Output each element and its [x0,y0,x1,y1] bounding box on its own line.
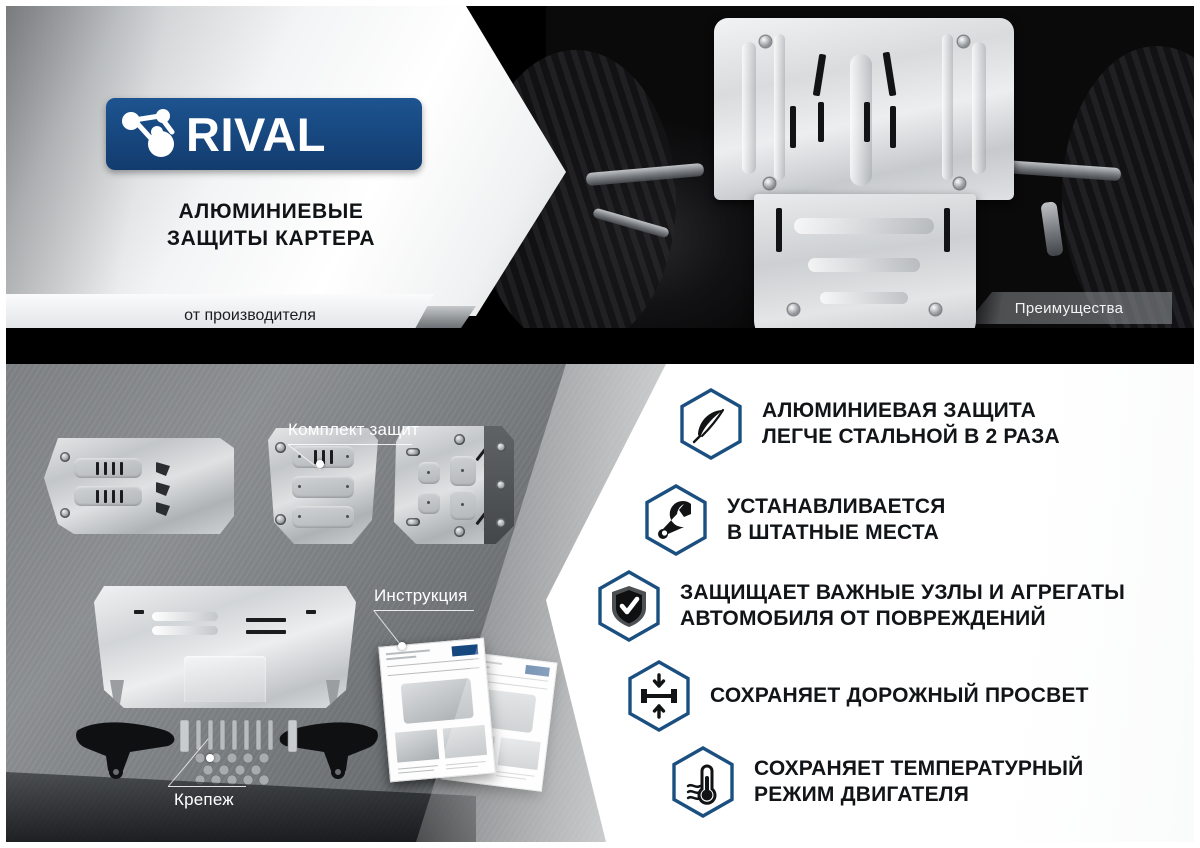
installed-skid-plate [714,18,1014,340]
headline-line-1: АЛЮМИНИЕВЫЕ [106,198,436,225]
benefit-text-3: ЗАЩИЩАЕТ ВАЖНЫЕ УЗЛЫ И АГРЕГАТЫ АВТОМОБИ… [680,580,1125,631]
skid-plate-large [94,586,356,708]
subtitle-text: от производителя [184,307,316,325]
benefit-item-2: УСТАНАВЛИВАЕТСЯ В ШТАТНЫЕ МЕСТА [643,484,946,556]
instruction-sheet-front [378,638,495,783]
benefit-item-1: АЛЮМИНИЕВАЯ ЗАЩИТА ЛЕГЧЕ СТАЛЬНОЙ В 2 РА… [678,388,1060,460]
skid-plate-c [394,426,514,544]
wrench-icon [643,484,709,556]
skid-plate-lower [754,194,976,346]
benefit-text-5: СОХРАНЯЕТ ТЕМПЕРАТУРНЫЙ РЕЖИМ ДВИГАТЕЛЯ [754,756,1083,807]
thermometer-icon [670,746,736,818]
leather-leaf-icon [678,388,744,460]
label-kit-dot [316,460,324,468]
sway-bar-right [1040,201,1063,257]
label-hardware-rule [168,786,246,787]
skid-plate-upper [714,18,1014,200]
headline-line-2: ЗАЩИТЫ КАРТЕРА [106,225,436,252]
label-instruction-dot [398,642,406,650]
bottom-section: Комплект защит Инструкция Крепеж [6,364,1194,842]
rival-logo: RIVAL [106,98,422,170]
ground-clearance-icon [626,660,692,732]
shield-check-icon [596,570,662,642]
label-kit: Комплект защит [288,420,419,440]
benefit-item-5: СОХРАНЯЕТ ТЕМПЕРАТУРНЫЙ РЕЖИМ ДВИГАТЕЛЯ [670,746,1083,818]
label-hardware-dot [206,754,214,762]
benefit-item-4: СОХРАНЯЕТ ДОРОЖНЫЙ ПРОСВЕТ [626,660,1089,732]
label-instruction-rule [374,610,474,611]
logo-wordmark: RIVAL [186,111,326,158]
benefit-item-3: ЗАЩИЩАЕТ ВАЖНЫЕ УЗЛЫ И АГРЕГАТЫ АВТОМОБИ… [596,570,1125,642]
skid-plate-a [44,438,234,534]
label-instruction: Инструкция [374,586,468,606]
skid-plate-b [268,428,378,544]
molecule-icon [116,106,190,162]
label-instruction-leader [373,610,401,645]
benefit-text-4: СОХРАНЯЕТ ДОРОЖНЫЙ ПРОСВЕТ [710,683,1089,709]
promo-banner: RIVAL АЛЮМИНИЕВЫЕ ЗАЩИТЫ КАРТЕРА от прои… [0,0,1200,848]
banner-frame: RIVAL АЛЮМИНИЕВЫЕ ЗАЩИТЫ КАРТЕРА от прои… [6,6,1194,842]
divider-band [6,328,1194,364]
advantages-tab: Преимущества [966,292,1172,324]
label-kit-rule [288,444,412,445]
benefit-text-2: УСТАНАВЛИВАЕТСЯ В ШТАТНЫЕ МЕСТА [727,494,946,545]
benefit-text-1: АЛЮМИНИЕВАЯ ЗАЩИТА ЛЕГЧЕ СТАЛЬНОЙ В 2 РА… [762,398,1060,449]
product-showcase: Комплект защит Инструкция Крепеж [6,364,566,842]
top-section: RIVAL АЛЮМИНИЕВЫЕ ЗАЩИТЫ КАРТЕРА от прои… [6,6,1194,364]
label-hardware: Крепеж [174,790,234,810]
advantages-tab-label: Преимущества [1015,300,1123,317]
page-title: АЛЮМИНИЕВЫЕ ЗАЩИТЫ КАРТЕРА [106,198,436,253]
bracket-left-icon [72,716,192,786]
